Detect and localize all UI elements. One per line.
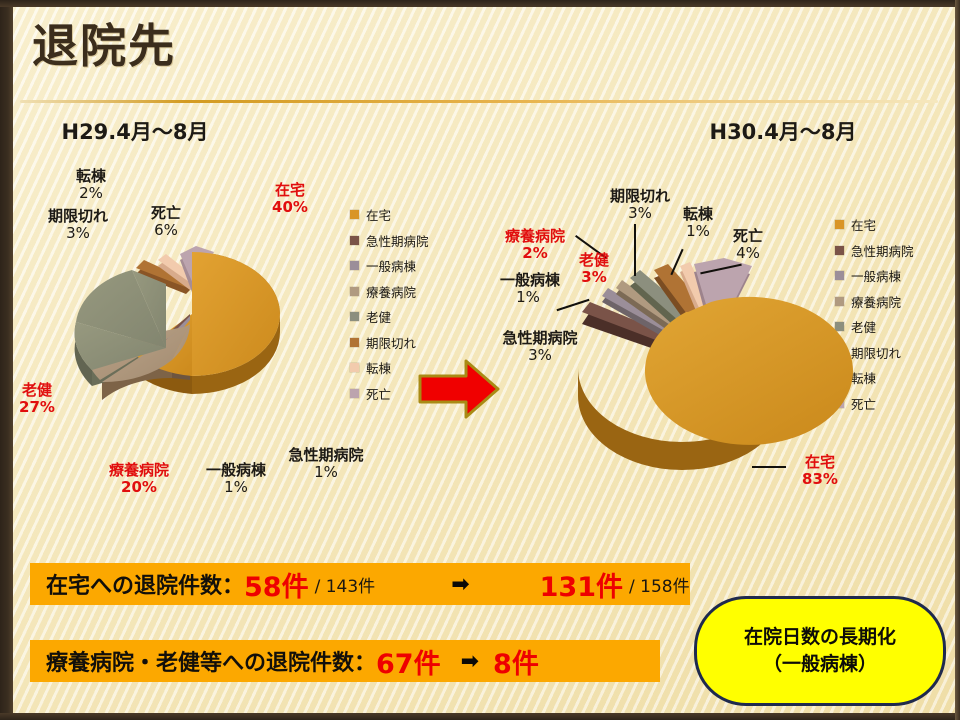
legend-swatch-zaitaku-icon [835,220,844,229]
page-title-reflection: 退院先 [32,57,912,71]
legend-item[interactable]: 老健 [350,304,429,330]
callout-pct: 27% [10,399,64,416]
legend-swatch-ippan-icon [350,261,359,270]
legend-item[interactable]: 在宅 [350,202,429,228]
legend-label: 転棟 [366,358,391,377]
callout-h30-ryoyo: 療養病院 2% [494,228,576,263]
bar-other-before-count: 67件 [376,642,441,681]
callout-h30-zaitaku: 在宅 83% [792,454,848,489]
legend-swatch-kyuseiki-icon [350,236,359,245]
legend-swatch-ryoyo-icon [350,287,359,296]
callout-name: 一般病棟 [500,272,556,289]
legend-item[interactable]: 転棟 [350,355,429,381]
callout-pct: 2% [494,245,576,262]
summary-bar-other-discharges: 療養病院・老健等への退院件数： 67件 ➡ 8件 [30,640,660,682]
callout-oval-length-of-stay: 在院日数の長期化 （一般病棟） [694,596,946,706]
callout-h30-roken: 老健 3% [572,252,616,287]
chart-legend-h29: 在宅 急性期病院 一般病棟 療養病院 老健 期限切れ [350,202,429,406]
bar-other-after-count: 8件 [493,642,539,681]
legend-swatch-zaitaku-icon [350,210,359,219]
callout-name: 急性期病院 [488,330,592,347]
callout-pct: 3% [572,269,616,286]
callout-name: 療養病院 [494,228,576,245]
callout-name: 転棟 [672,206,724,223]
oval-line-1: 在院日数の長期化 [744,624,896,651]
callout-name: 療養病院 [96,462,182,479]
slide-canvas: 退院先 退院先 H29.4月～8月 在宅 急性期病院 一般病棟 療養病院 [0,0,960,720]
title-block: 退院先 退院先 [32,22,912,97]
leader-line [752,466,786,468]
legend-item[interactable]: 死亡 [350,381,429,407]
callout-h29-kyuseiki: 急性期病院 1% [276,447,376,482]
bar-home-after-count: 131件 [540,565,623,604]
callout-pct: 20% [96,479,182,496]
callout-pct: 2% [60,185,122,202]
legend-swatch-shibo-icon [350,389,359,398]
callout-name: 老健 [10,382,64,399]
bar-home-before-total: / 143件 [315,572,376,597]
legend-label: 死亡 [366,384,391,403]
summary-bar-home-discharges: 在宅への退院件数： 58件 / 143件 ➡ 131件 / 158件 [30,563,690,605]
callout-name: 在宅 [262,182,318,199]
oval-line-2: （一般病棟） [763,651,877,678]
callout-name: 急性期病院 [276,447,376,464]
callout-h30-shibo: 死亡 4% [722,228,774,263]
callout-h29-roken: 老健 27% [10,382,64,417]
callout-pct: 1% [196,479,276,496]
callout-name: 転棟 [60,168,122,185]
legend-swatch-roken-icon [350,312,359,321]
callout-pct: 3% [596,205,684,222]
callout-pct: 40% [262,199,318,216]
legend-item[interactable]: 急性期病院 [350,228,429,254]
callout-pct: 6% [138,222,194,239]
legend-item[interactable]: 一般病棟 [350,253,429,279]
callout-pct: 1% [500,289,556,306]
chart-title-h29: H29.4月～8月 [0,116,370,146]
bar-home-arrow-icon: ➡ [451,572,469,597]
chart-title-h30: H30.4月～8月 [548,116,960,146]
callout-name: 死亡 [722,228,774,245]
callout-pct: 1% [276,464,376,481]
legend-label: 急性期病院 [366,231,429,250]
frame-band-top [0,0,960,7]
callout-h29-zaitaku: 在宅 40% [262,182,318,217]
legend-label: 療養病院 [366,282,416,301]
callout-h29-tento: 転棟 2% [60,168,122,203]
bar-home-after-total: / 158件 [629,572,690,597]
legend-swatch-tento-icon [350,363,359,372]
callout-name: 期限切れ [30,208,126,225]
legend-label: 一般病棟 [366,256,416,275]
bar-home-label: 在宅への退院件数： [46,568,244,600]
bar-home-before-count: 58件 [244,565,309,604]
legend-label: 在宅 [851,215,876,234]
callout-h30-tento: 転棟 1% [672,206,724,241]
pie-h29-svg [40,230,340,445]
callout-pct: 1% [672,223,724,240]
callout-name: 一般病棟 [196,462,276,479]
callout-h30-kigen: 期限切れ 3% [596,188,684,223]
bar-other-arrow-icon: ➡ [461,649,479,674]
legend-item[interactable]: 療養病院 [350,279,429,305]
callout-h29-shibo: 死亡 6% [138,205,194,240]
leader-line [634,224,636,276]
legend-item[interactable]: 在宅 [835,212,914,238]
slice-zaitaku [645,297,853,445]
callout-name: 死亡 [138,205,194,222]
frame-band-bottom [0,713,960,720]
callout-h30-kyuseiki: 急性期病院 3% [488,330,592,365]
callout-h29-ippan: 一般病棟 1% [196,462,276,497]
legend-swatch-kigen-icon [350,338,359,347]
legend-item[interactable]: 期限切れ [350,330,429,356]
callout-name: 老健 [572,252,616,269]
callout-pct: 3% [488,347,592,364]
callout-h29-ryoyo: 療養病院 20% [96,462,182,497]
legend-label: 老健 [366,307,391,326]
callout-pct: 4% [722,245,774,262]
callout-pct: 83% [792,471,848,488]
pie-chart-h29 [40,230,340,445]
callout-pct: 3% [30,225,126,242]
callout-h29-kigen: 期限切れ 3% [30,208,126,243]
legend-label: 在宅 [366,205,391,224]
title-divider [20,100,938,103]
callout-name: 期限切れ [596,188,684,205]
legend-label: 期限切れ [366,333,416,352]
callout-name: 在宅 [792,454,848,471]
callout-h30-ippan: 一般病棟 1% [500,272,556,305]
bar-other-label: 療養病院・老健等への退院件数： [46,645,376,677]
